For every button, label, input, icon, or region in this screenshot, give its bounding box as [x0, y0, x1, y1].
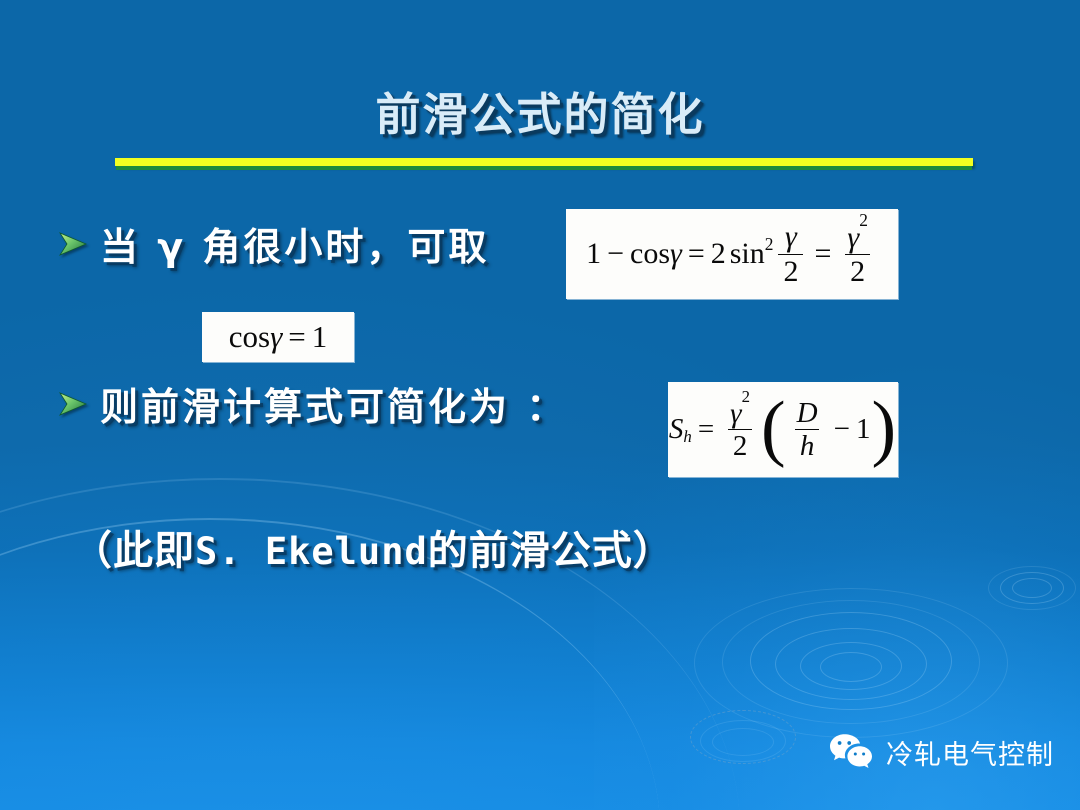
equation-cos-equals-one: cos γ = 1: [229, 319, 328, 355]
bullet-row-1: 当 γ 角很小时，可取: [58, 216, 489, 271]
eq1-frac-numerator: γ: [780, 221, 802, 253]
eq2-one: 1: [312, 319, 328, 355]
equation-box-cos-small-angle: 1 − cos γ = 2 sin 2 γ 2 = γ2 2: [566, 209, 898, 299]
title-underline-rule: [115, 158, 973, 166]
eq3-right-paren: ): [871, 405, 896, 451]
watermark-label: 冷轧电气控制: [886, 733, 1054, 772]
eq3-frac-num-base: γ: [730, 397, 741, 429]
eq3-one: 1: [856, 413, 871, 446]
slide-canvas: 前滑公式的简化 当 γ 角很小时，可取 1 − cos γ = 2 sin 2: [0, 0, 1080, 810]
eq3-equals: =: [698, 413, 714, 446]
wechat-icon: [828, 732, 874, 772]
eq3-fraction-gamma2-over-2: γ2 2: [725, 398, 755, 462]
equation-box-cos-equals-one: cos γ = 1: [202, 312, 354, 362]
eq3-S-subscript: h: [683, 427, 691, 447]
eq3-frac-num-exponent: 2: [742, 387, 750, 406]
eq1-frac2-num-exponent: 2: [859, 210, 868, 230]
ripple-ring: [712, 728, 774, 756]
eq1-sin: sin: [730, 237, 765, 271]
eq3-fraction-D-over-h: D h: [792, 398, 823, 461]
eq3-frac2-numerator: D: [792, 398, 823, 429]
eq1-gamma: γ: [670, 237, 682, 271]
eq2-gamma: γ: [270, 319, 282, 355]
eq3-frac2-denominator: h: [795, 429, 820, 461]
eq3-S: S: [669, 413, 684, 446]
bullet-label-2: 则前滑计算式可简化为 ：: [100, 376, 567, 431]
eq1-cos: cos: [630, 237, 670, 271]
page-title: 前滑公式的简化: [0, 78, 1080, 143]
eq1-frac-denominator: 2: [778, 254, 803, 287]
equation-forward-slip-simplified: Sh = γ2 2 ( D h − 1 ): [669, 398, 897, 462]
eq1-frac2-num-base: γ: [847, 221, 859, 254]
eq3-frac-denominator: 2: [728, 429, 753, 461]
eq1-equals: =: [688, 237, 705, 271]
eq1-fraction-gamma-over-2: γ 2: [778, 221, 803, 286]
eq1-equals-2: =: [814, 237, 831, 271]
eq1-minus: −: [607, 237, 624, 271]
eq1-frac2-numerator: γ2: [842, 221, 873, 254]
eq1-frac2-denominator: 2: [845, 254, 870, 287]
bullet-label-1: 当 γ 角很小时，可取: [100, 216, 489, 271]
eq3-minus: −: [834, 413, 850, 446]
bullet-row-2: 则前滑计算式可简化为 ：: [58, 376, 567, 431]
eq3-left-paren: (: [761, 405, 786, 451]
note-latin-name: S. Ekelund: [195, 530, 428, 573]
green-arrow-bullet-icon: [58, 391, 88, 417]
eq1-fraction-gamma2-over-2: γ2 2: [842, 221, 873, 287]
equation-box-forward-slip-simplified: Sh = γ2 2 ( D h − 1 ): [668, 382, 898, 477]
eq1-sin-exponent: 2: [765, 234, 774, 255]
eq1-two: 2: [711, 237, 726, 271]
note-suffix: 的前滑公式）: [428, 528, 674, 574]
wechat-watermark: 冷轧电气控制: [828, 732, 1054, 772]
eq2-equals: =: [288, 319, 305, 355]
eq2-cos: cos: [229, 319, 270, 355]
ripple-ring: [988, 566, 1076, 610]
eq1-one: 1: [586, 237, 601, 271]
green-arrow-bullet-icon: [58, 231, 88, 257]
source-note: （此即S. Ekelund的前滑公式）: [72, 518, 674, 576]
equation-cos-small-angle: 1 − cos γ = 2 sin 2 γ 2 = γ2 2: [586, 221, 878, 287]
note-prefix: （此即: [72, 528, 195, 574]
eq3-frac-numerator: γ2: [725, 398, 755, 430]
